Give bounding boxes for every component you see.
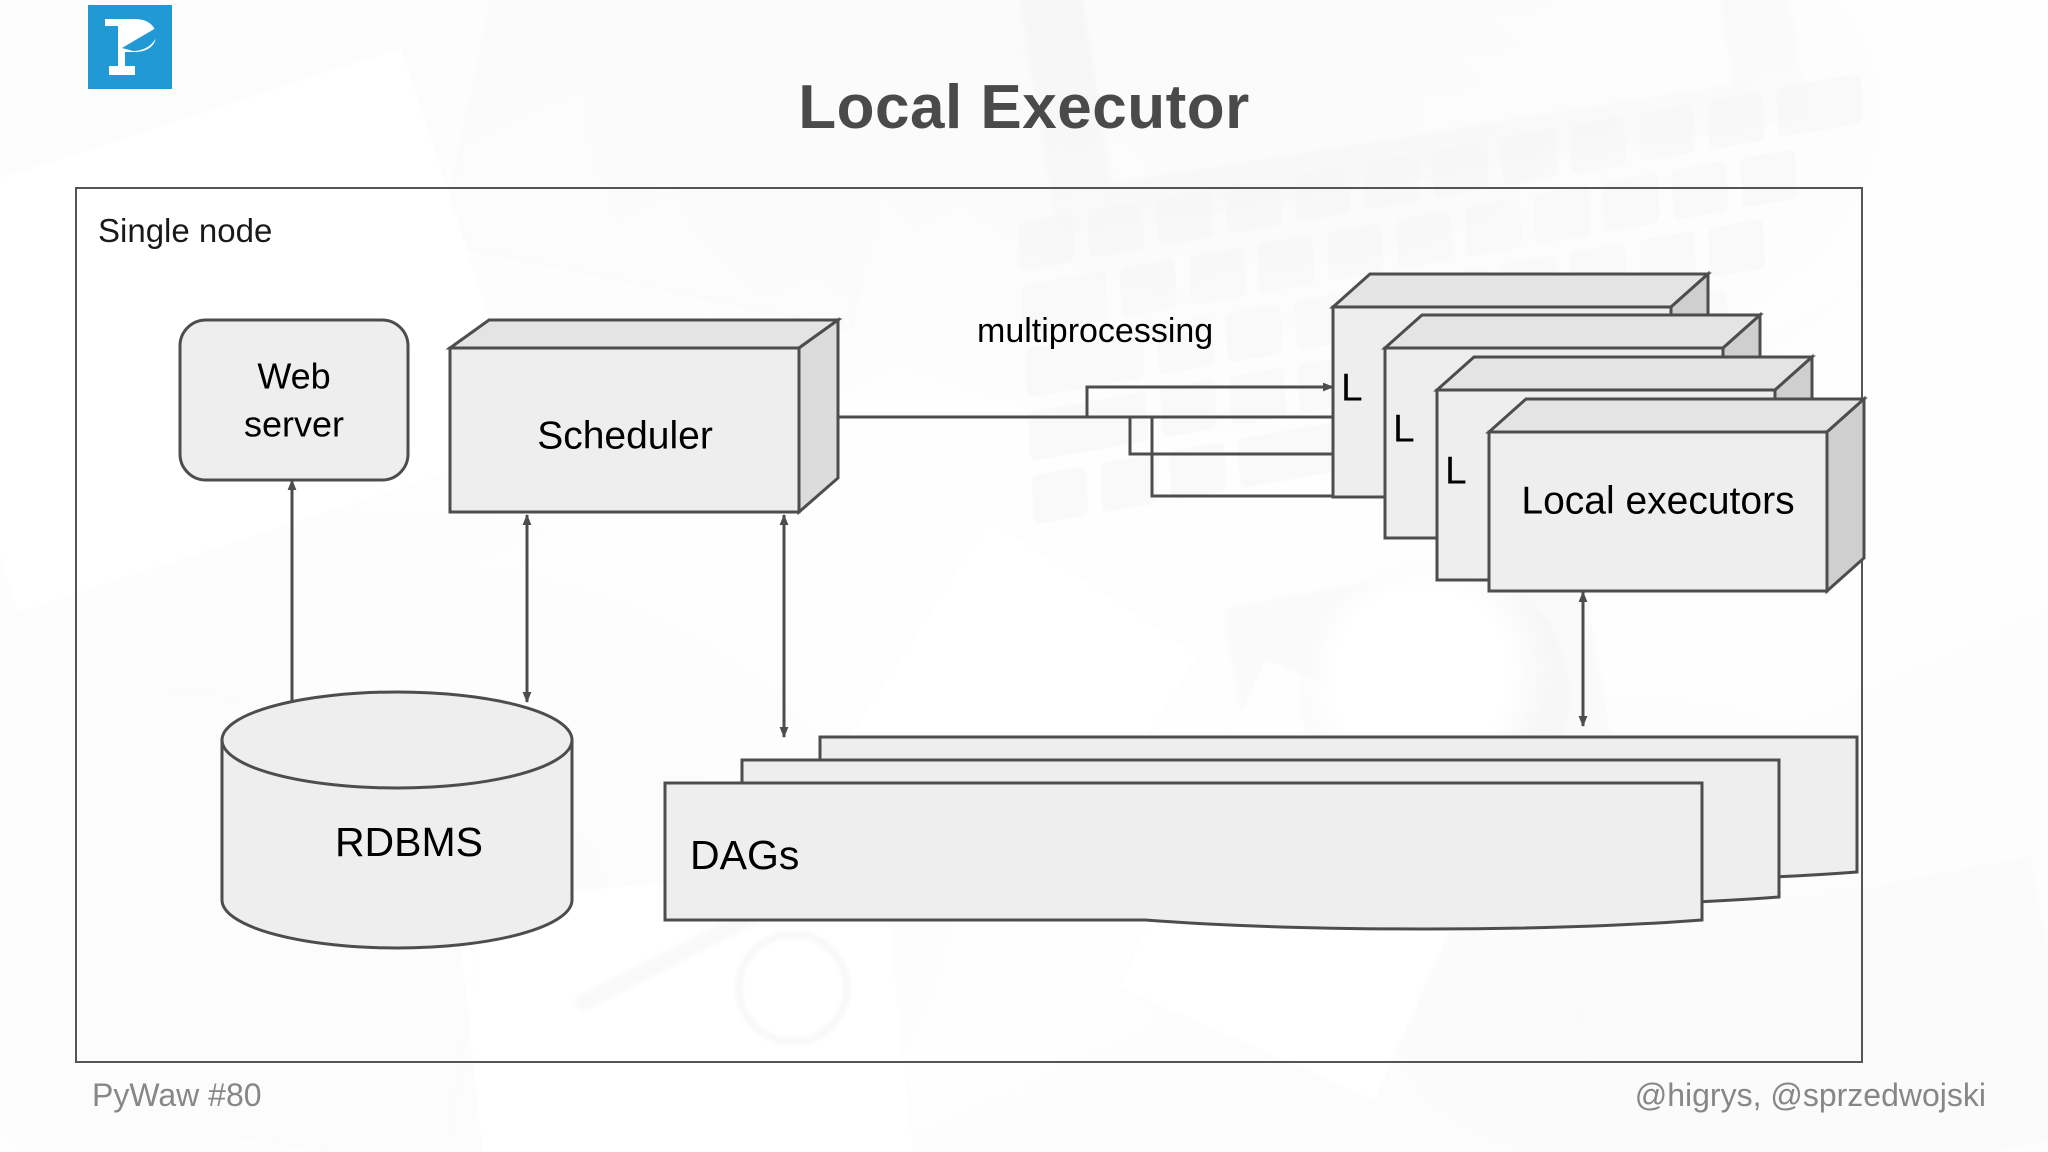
web-server-label-line1: Web [257,356,330,397]
scheduler-right-face [799,320,838,512]
local-executors-label: Local executors [1521,479,1794,522]
web-server-box[interactable] [180,320,408,480]
dags-label: DAGs [690,832,799,878]
node-rdbms[interactable]: RDBMS [222,692,572,948]
executor-2-top-face [1385,315,1760,348]
local-executor-box-4[interactable]: Local executors [1489,399,1864,591]
node-web-server[interactable]: Web server [180,320,408,480]
rdbms-cylinder-top [222,692,572,788]
node-scheduler[interactable]: Scheduler [450,320,838,512]
executor-3-top-face [1437,357,1812,390]
multiprocessing-label: multiprocessing [977,312,1213,350]
node-local-executors-stack[interactable]: L L L Local executors [1333,274,1864,591]
footer-right-text: @higrys, @sprzedwojski [1635,1077,1986,1114]
executor-3-label: L [1445,449,1467,492]
scheduler-label: Scheduler [537,414,713,457]
edge-scheduler-to-executor-1 [1087,387,1333,417]
slide-canvas: Local Executor Single node [0,0,2048,1152]
node-dags-stack[interactable]: DAGs [665,737,1857,929]
web-server-label-line2: server [244,404,344,445]
scheduler-top-face [450,320,838,348]
executor-1-top-face [1333,274,1708,307]
executor-1-label: L [1341,366,1363,409]
rdbms-label: RDBMS [335,819,483,865]
architecture-diagram: multiprocessing Web server Scheduler L [0,0,2048,1152]
executor-4-right-face [1827,399,1864,591]
executor-2-label: L [1393,407,1415,450]
executor-4-top-face [1489,399,1864,432]
dags-sheet-front[interactable] [665,783,1702,929]
footer-left-text: PyWaw #80 [92,1077,262,1114]
